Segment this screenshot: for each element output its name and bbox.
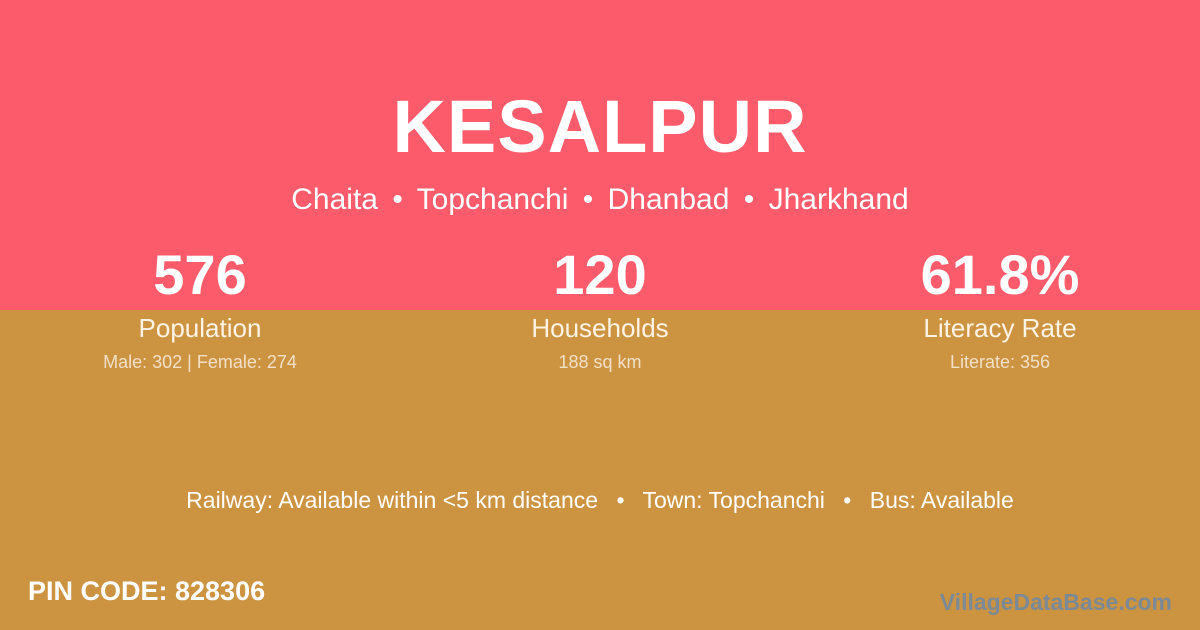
location-breadcrumb: Chaita • Topchanchi • Dhanbad • Jharkhan…	[0, 182, 1200, 218]
stat-label: Households	[400, 313, 800, 343]
amenities-line: Railway: Available within <5 km distance…	[0, 485, 1200, 515]
stat-literacy-rate: 61.8% Literacy Rate Literate: 356	[800, 243, 1200, 373]
stats-row: 576 Population Male: 302 | Female: 274 1…	[0, 243, 1200, 373]
breadcrumb-separator-icon: •	[386, 183, 409, 216]
breadcrumb-district: Dhanbad	[608, 183, 730, 216]
site-brand-watermark: VillageDataBase.com	[940, 588, 1172, 616]
stat-sublabel: Literate: 356	[800, 351, 1200, 373]
breadcrumb-block: Topchanchi	[417, 183, 569, 216]
village-info-card: KESALPUR Chaita • Topchanchi • Dhanbad •…	[0, 0, 1200, 630]
amenity-separator-icon: •	[831, 487, 863, 513]
stat-sublabel: Male: 302 | Female: 274	[0, 351, 400, 373]
stat-label: Literacy Rate	[800, 313, 1200, 343]
breadcrumb-state: Jharkhand	[769, 183, 909, 216]
pin-code-label: PIN CODE: 828306	[28, 575, 265, 607]
stat-households: 120 Households 188 sq km	[400, 243, 800, 373]
stat-label: Population	[0, 313, 400, 343]
amenity-railway: Railway: Available within <5 km distance	[186, 487, 598, 513]
stat-value: 576	[0, 243, 400, 307]
breadcrumb-separator-icon: •	[577, 183, 600, 216]
stat-sublabel: 188 sq km	[400, 351, 800, 373]
breadcrumb-panchayat: Chaita	[291, 183, 378, 216]
breadcrumb-separator-icon: •	[738, 183, 761, 216]
amenity-separator-icon: •	[604, 487, 636, 513]
amenity-town: Town: Topchanchi	[642, 487, 824, 513]
page-title: KESALPUR	[0, 84, 1200, 170]
stat-value: 120	[400, 243, 800, 307]
stat-value: 61.8%	[800, 243, 1200, 307]
stat-population: 576 Population Male: 302 | Female: 274	[0, 243, 400, 373]
amenity-bus: Bus: Available	[870, 487, 1014, 513]
